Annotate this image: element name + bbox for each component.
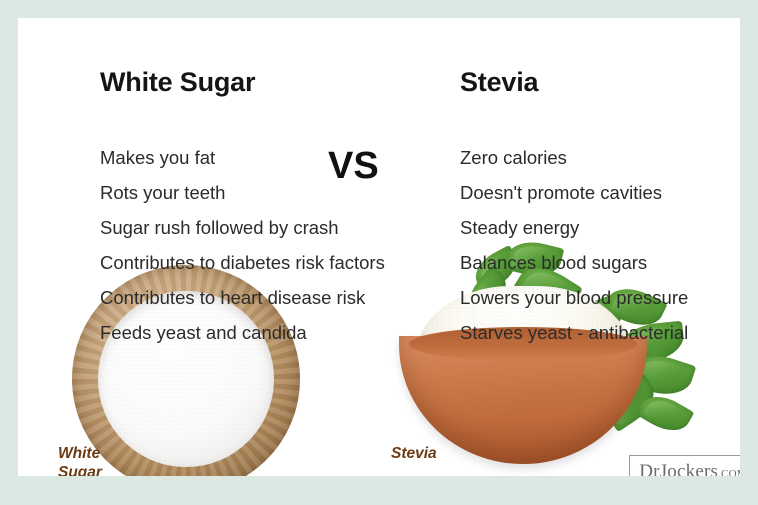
logo-wordmark: DrJockers.COM bbox=[630, 462, 740, 476]
list-item: Steady energy bbox=[460, 210, 740, 245]
list-item: Makes you fat bbox=[100, 140, 400, 175]
drjockers-logo[interactable]: DrJockers.COM SUPERCHARGE YOUR HEALTH bbox=[629, 455, 740, 476]
list-item: Feeds yeast and candida bbox=[100, 315, 400, 350]
white-sugar-image-caption: White Sugar bbox=[58, 444, 102, 476]
left-column-heading: White Sugar bbox=[100, 67, 255, 98]
list-item: Doesn't promote cavities bbox=[460, 175, 740, 210]
infographic-canvas: White Sugar Stevia VS Makes you fat Rots… bbox=[18, 18, 740, 476]
list-item: Starves yeast - antibacterial bbox=[460, 315, 740, 350]
stevia-benefits-list: Zero calories Doesn't promote cavities S… bbox=[460, 140, 740, 350]
list-item: Lowers your blood pressure bbox=[460, 280, 740, 315]
caption-line: White bbox=[58, 444, 102, 463]
logo-domain: .COM bbox=[718, 468, 740, 476]
list-item: Zero calories bbox=[460, 140, 740, 175]
right-column-heading: Stevia bbox=[460, 67, 538, 98]
list-item: Balances blood sugars bbox=[460, 245, 740, 280]
outer-border: White Sugar Stevia VS Makes you fat Rots… bbox=[0, 0, 758, 505]
list-item: Sugar rush followed by crash bbox=[100, 210, 400, 245]
caption-line: Sugar bbox=[58, 463, 102, 476]
list-item: Contributes to diabetes risk factors bbox=[100, 245, 400, 280]
logo-name: DrJockers bbox=[639, 461, 718, 476]
white-sugar-effects-list: Makes you fat Rots your teeth Sugar rush… bbox=[100, 140, 400, 350]
list-item: Rots your teeth bbox=[100, 175, 400, 210]
stevia-image-caption: Stevia bbox=[391, 444, 437, 463]
list-item: Contributes to heart disease risk bbox=[100, 280, 400, 315]
